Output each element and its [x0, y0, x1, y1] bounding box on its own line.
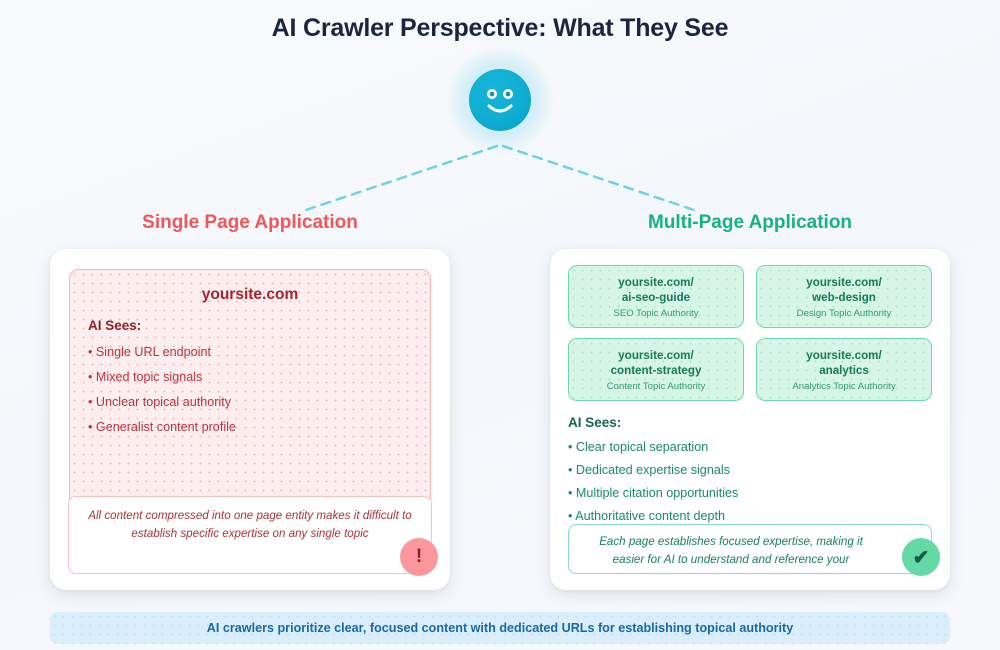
- url-card-analytics[interactable]: yoursite.com/ analytics Analytics Topic …: [756, 338, 932, 401]
- ai-crawler-bot-face-icon: [469, 69, 531, 131]
- list-item: • Single URL endpoint: [88, 342, 412, 363]
- mpa-note-box: Each page establishes focused expertise,…: [568, 524, 932, 574]
- list-item: • Multiple citation opportunities: [568, 483, 932, 504]
- list-item: • Unclear topical authority: [88, 392, 412, 413]
- url-card-web-design[interactable]: yoursite.com/ web-design Design Topic Au…: [756, 265, 932, 328]
- url-path: analytics: [757, 363, 931, 378]
- mpa-bullet-list: • Clear topical separation • Dedicated e…: [568, 437, 932, 527]
- list-item: • Mixed topic signals: [88, 367, 412, 388]
- url-domain: yoursite.com/: [757, 275, 931, 290]
- spa-bullet-list: • Single URL endpoint • Mixed topic sign…: [88, 342, 412, 438]
- list-item: • Dedicated expertise signals: [568, 460, 932, 481]
- mpa-card: yoursite.com/ ai-seo-guide SEO Topic Aut…: [550, 249, 950, 590]
- spa-card: yoursite.com AI Sees: • Single URL endpo…: [50, 249, 450, 590]
- summary-banner: AI crawlers prioritize clear, focused co…: [50, 612, 950, 644]
- url-domain: yoursite.com/: [757, 348, 931, 363]
- spa-site-url: yoursite.com: [88, 286, 412, 304]
- spa-ai-sees-label: AI Sees:: [88, 318, 412, 333]
- column-heading-mpa: Multi-Page Application: [550, 212, 950, 234]
- success-badge: ✔: [902, 538, 940, 576]
- url-path: ai-seo-guide: [569, 290, 743, 305]
- page-title: AI Crawler Perspective: What They See: [0, 14, 1000, 43]
- mpa-url-grid: yoursite.com/ ai-seo-guide SEO Topic Aut…: [568, 265, 932, 401]
- ai-crawler-bot: [440, 40, 560, 160]
- list-item: • Clear topical separation: [568, 437, 932, 458]
- mpa-ai-sees-block: AI Sees: • Clear topical separation • De…: [568, 415, 932, 527]
- column-heading-spa: Single Page Application: [50, 212, 450, 234]
- list-item: • Generalist content profile: [88, 417, 412, 438]
- url-authority: SEO Topic Authority: [569, 306, 743, 321]
- mpa-ai-sees-label: AI Sees:: [568, 415, 932, 430]
- url-authority: Analytics Topic Authority: [757, 379, 931, 394]
- url-card-ai-seo-guide[interactable]: yoursite.com/ ai-seo-guide SEO Topic Aut…: [568, 265, 744, 328]
- spa-note-box: All content compressed into one page ent…: [68, 496, 432, 574]
- url-domain: yoursite.com/: [569, 275, 743, 290]
- url-authority: Design Topic Authority: [757, 306, 931, 321]
- url-card-content-strategy[interactable]: yoursite.com/ content-strategy Content T…: [568, 338, 744, 401]
- warning-badge: !: [400, 538, 438, 576]
- url-authority: Content Topic Authority: [569, 379, 743, 394]
- url-domain: yoursite.com/: [569, 348, 743, 363]
- url-path: web-design: [757, 290, 931, 305]
- url-path: content-strategy: [569, 363, 743, 378]
